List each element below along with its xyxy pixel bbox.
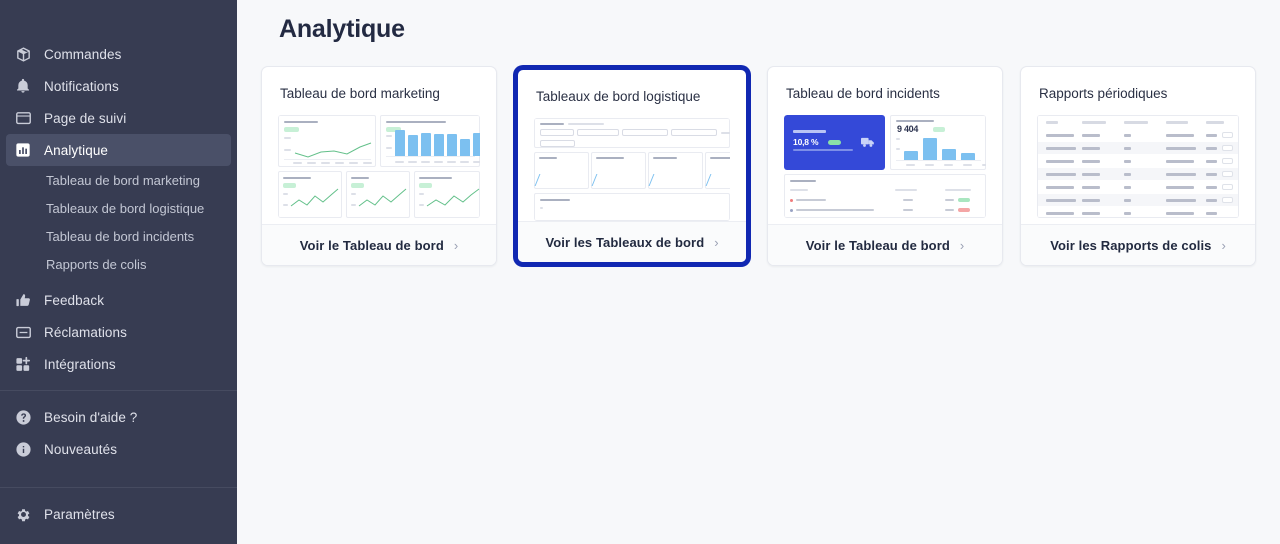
preview-tile-time-to-delivery: [648, 152, 703, 189]
card-title: Rapports périodiques: [1021, 67, 1255, 101]
integrations-icon: [14, 355, 32, 373]
sidebar-item-label: Notifications: [44, 79, 119, 94]
chevron-right-icon: ›: [1222, 239, 1226, 252]
sidebar-subitem-label: Rapports de colis: [46, 257, 146, 272]
sidebar-subitem-label: Tableaux de bord logistique: [46, 201, 204, 216]
card-tableaux-de-bord-logistique[interactable]: Tableaux de bord logistique: [514, 66, 750, 266]
sidebar-subitem-tableaux-de-bord-logistique[interactable]: Tableaux de bord logistique: [6, 194, 231, 222]
sidebar-item-label: Analytique: [44, 143, 108, 158]
card-preview-marketing: [278, 115, 480, 218]
sidebar-subitem-tableau-de-bord-incidents[interactable]: Tableau de bord incidents: [6, 222, 231, 250]
sidebar-item-analytique[interactable]: Analytique: [6, 134, 231, 166]
preview-kpi-value: 10,8 %: [793, 137, 818, 147]
sidebar: Commandes Notifications Page de suivi An…: [0, 0, 237, 544]
sidebar-item-besoin-daide[interactable]: Besoin d'aide ?: [6, 401, 231, 433]
page-title: Analytique: [261, 0, 1256, 44]
thumbs-up-icon: [14, 291, 32, 309]
sidebar-subitem-label: Tableau de bord incidents: [46, 229, 194, 244]
card-cta-label: Voir les Rapports de colis: [1050, 238, 1211, 253]
sidebar-item-feedback[interactable]: Feedback: [6, 284, 231, 316]
sidebar-item-label: Page de suivi: [44, 111, 126, 126]
preview-chart-global-conversion-rate: [414, 171, 480, 218]
card-cta-label: Voir le Tableau de bord: [806, 238, 950, 253]
card-title: Tableaux de bord logistique: [518, 70, 746, 104]
sidebar-bottom: Paramètres: [0, 477, 237, 544]
sidebar-item-page-de-suivi[interactable]: Page de suivi: [6, 102, 231, 134]
gear-icon: [14, 505, 32, 523]
table-row: [1038, 129, 1238, 141]
sidebar-item-parametres[interactable]: Paramètres: [6, 498, 231, 530]
table-row: [1038, 168, 1238, 180]
preview-tile-time-to-1st-presentation: [591, 152, 646, 189]
sidebar-item-label: Nouveautés: [44, 442, 117, 457]
preview-table-incidents-par-types: [784, 174, 986, 218]
table-row: [1038, 181, 1238, 193]
bell-icon: [14, 77, 32, 95]
app-root: Commandes Notifications Page de suivi An…: [0, 0, 1280, 544]
table-row: [1038, 207, 1238, 218]
package-icon: [14, 45, 32, 63]
preview-filter-bar: [534, 118, 730, 148]
card-cta-voir-les-tableaux-de-bord[interactable]: Voir les Tableaux de bord ›: [518, 221, 746, 262]
sidebar-item-commandes[interactable]: Commandes: [6, 38, 231, 70]
sidebar-item-nouveautes[interactable]: Nouveautés: [6, 433, 231, 465]
card-rapports-periodiques[interactable]: Rapports périodiques: [1020, 66, 1256, 266]
sidebar-item-label: Commandes: [44, 47, 121, 62]
truck-icon: [861, 136, 875, 148]
preview-chart-global-open-rate: [278, 171, 342, 218]
card-title: Tableau de bord marketing: [262, 67, 496, 101]
card-preview-rapports: [1037, 115, 1239, 218]
card-cta-label: Voir les Tableaux de bord: [545, 235, 704, 250]
sidebar-item-label: Paramètres: [44, 507, 115, 522]
card-title: Tableau de bord incidents: [768, 67, 1002, 101]
sidebar-item-integrations[interactable]: Intégrations: [6, 348, 231, 380]
sidebar-divider-2: [0, 487, 237, 488]
sidebar-item-label: Besoin d'aide ?: [44, 410, 137, 425]
preview-table-rapports: [1037, 115, 1239, 218]
sidebar-item-label: Feedback: [44, 293, 104, 308]
card-tableau-de-bord-marketing[interactable]: Tableau de bord marketing: [261, 66, 497, 266]
table-row: [1038, 142, 1238, 154]
preview-tile-time-to-possession: [705, 152, 730, 189]
card-preview-incidents: 10,8 % 9 404: [784, 115, 986, 218]
tracking-page-icon: [14, 109, 32, 127]
sidebar-subitem-rapports-de-colis[interactable]: Rapports de colis: [6, 250, 231, 278]
preview-chart-global-ctr: [346, 171, 410, 218]
card-preview-logistique: [534, 118, 730, 221]
question-circle-icon: [14, 408, 32, 426]
card-cta-label: Voir le Tableau de bord: [300, 238, 444, 253]
sidebar-item-label: Réclamations: [44, 325, 127, 340]
card-tableau-de-bord-incidents[interactable]: Tableau de bord incidents 10,8 %: [767, 66, 1003, 266]
sidebar-divider-1: [0, 390, 237, 391]
dashboard-card-grid: Tableau de bord marketing: [261, 66, 1256, 266]
sidebar-item-notifications[interactable]: Notifications: [6, 70, 231, 102]
preview-chart-notifications-sent: [278, 115, 376, 167]
card-cta-voir-les-rapports-de-colis[interactable]: Voir les Rapports de colis ›: [1021, 224, 1255, 265]
sidebar-subitem-tableau-de-bord-marketing[interactable]: Tableau de bord marketing: [6, 166, 231, 194]
sidebar-item-reclamations[interactable]: Réclamations: [6, 316, 231, 348]
preview-kpi-taux-dincidents: 10,8 %: [784, 115, 885, 170]
table-header-row: [1038, 116, 1238, 128]
bar-chart-icon: [14, 141, 32, 159]
card-cta-voir-le-tableau-de-bord[interactable]: Voir le Tableau de bord ›: [262, 224, 496, 265]
preview-count-value: 9 404: [897, 124, 918, 134]
chevron-right-icon: ›: [454, 239, 458, 252]
preview-packages-over-time: [534, 193, 730, 221]
preview-chart-orders-placed: [380, 115, 480, 167]
sidebar-subitem-label: Tableau de bord marketing: [46, 173, 200, 188]
preview-tile-time-to-ship: [534, 152, 589, 189]
info-circle-icon: [14, 440, 32, 458]
chevron-right-icon: ›: [714, 236, 718, 249]
chevron-right-icon: ›: [960, 239, 964, 252]
main-content: Analytique Tableau de bord marketing: [237, 0, 1280, 544]
preview-chart-nombre-de-colis-en-incident: 9 404: [890, 115, 986, 170]
table-row: [1038, 155, 1238, 167]
sidebar-item-label: Intégrations: [44, 357, 116, 372]
inbox-icon: [14, 323, 32, 341]
table-row: [1038, 194, 1238, 206]
card-cta-voir-le-tableau-de-bord-incidents[interactable]: Voir le Tableau de bord ›: [768, 224, 1002, 265]
